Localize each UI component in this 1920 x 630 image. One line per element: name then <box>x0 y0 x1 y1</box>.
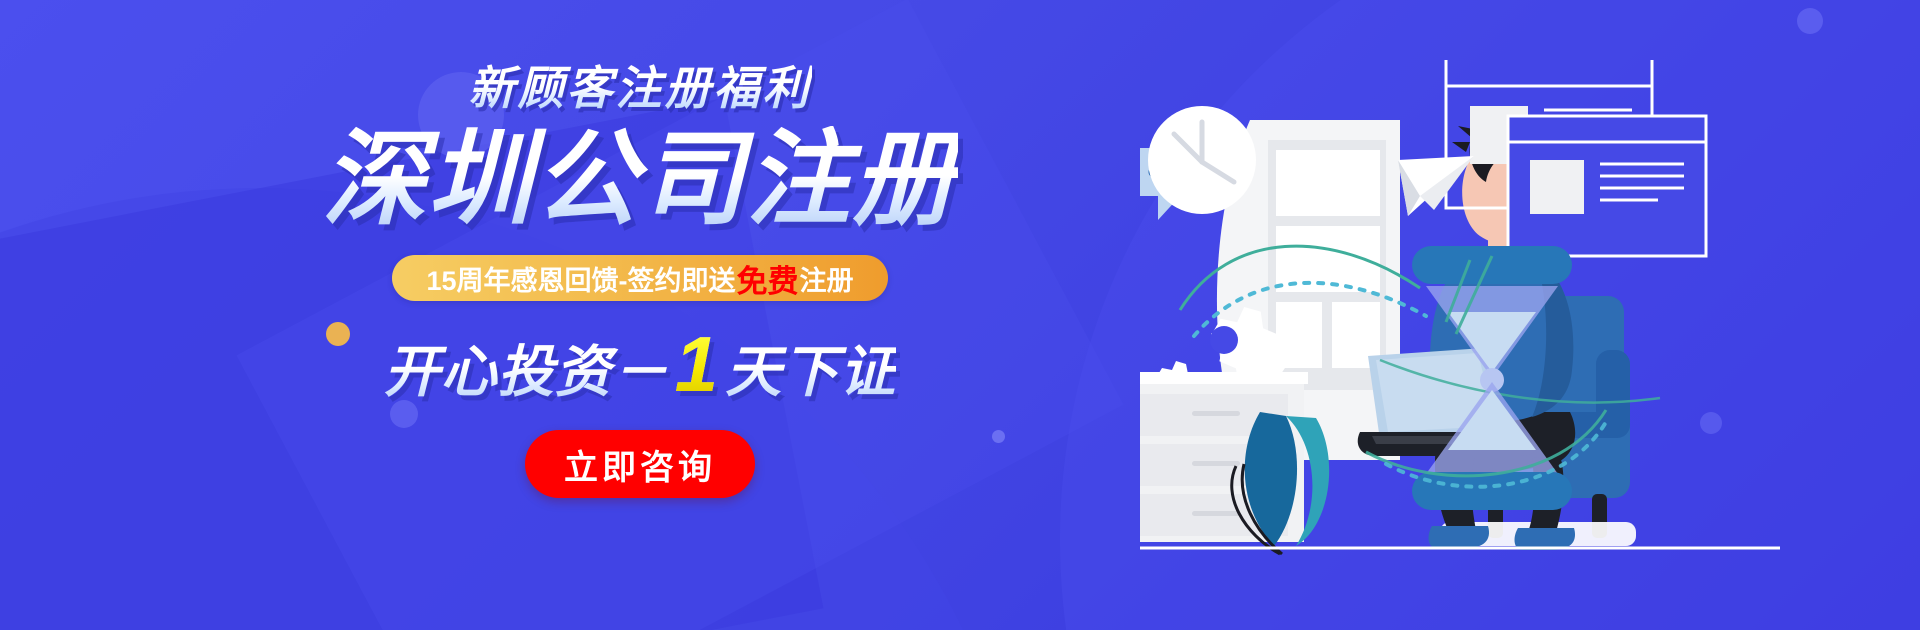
tagline-suffix: 天下证 <box>725 327 896 408</box>
promo-suffix: 注册 <box>800 259 854 298</box>
tagline: 开心投资－ 1 天下证 <box>384 327 896 408</box>
promo-prefix: 15周年感恩回馈-签约即送 <box>426 259 735 298</box>
promo-pill: 15周年感恩回馈-签约即送 免费 注册 <box>392 255 887 301</box>
decorative-dot-tagline <box>992 430 1005 443</box>
tagline-number: 1 <box>669 333 725 395</box>
copy-column: 新顾客注册福利 深圳公司注册 15周年感恩回馈-签约即送 免费 注册 开心投资－… <box>330 52 950 498</box>
decorative-dot-top-right <box>1797 8 1823 34</box>
tagline-prefix: 开心投资－ <box>384 327 669 408</box>
eyebrow-text: 新顾客注册福利 <box>469 52 812 118</box>
promo-banner: 新顾客注册福利 深圳公司注册 15周年感恩回馈-签约即送 免费 注册 开心投资－… <box>0 0 1920 630</box>
page-title: 深圳公司注册 <box>322 126 958 235</box>
document-card-secondary <box>1508 116 1706 256</box>
promo-highlight: 免费 <box>736 256 800 301</box>
illustration-person-working <box>1140 60 1840 580</box>
wall-clock-icon <box>1148 106 1256 214</box>
consult-now-button[interactable]: 立即咨询 <box>525 430 755 498</box>
